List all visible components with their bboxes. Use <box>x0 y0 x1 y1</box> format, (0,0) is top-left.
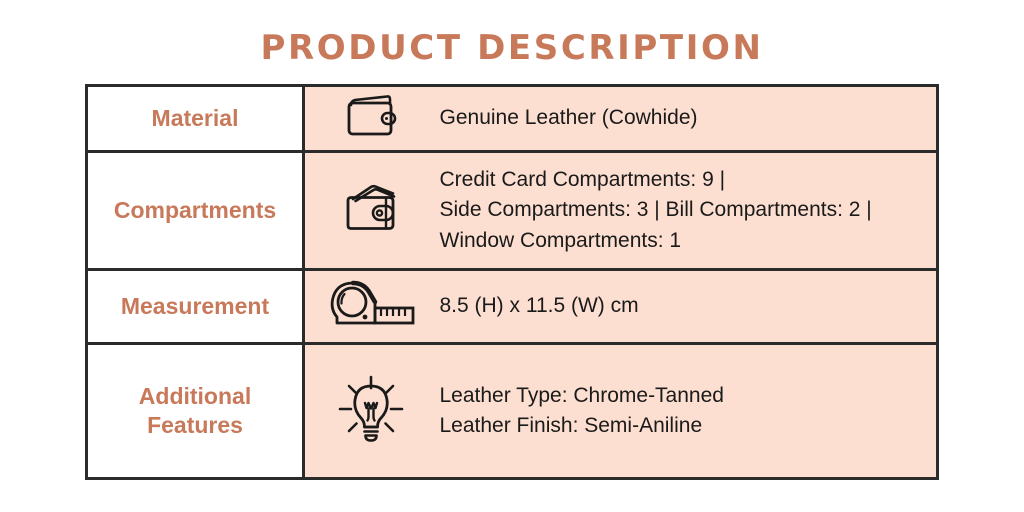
row-value-additional-features: Leather Type: Chrome-Tanned Leather Fini… <box>432 344 938 479</box>
row-icon-cell-material <box>304 86 432 152</box>
table-row-material: Material Genuine Leather (Cowhide) <box>87 86 938 152</box>
wallet-closed-icon <box>343 93 399 139</box>
value-line: Credit Card Compartments: 9 | <box>440 165 923 195</box>
value-line: 8.5 (H) x 11.5 (W) cm <box>440 291 923 321</box>
row-label-material: Material <box>87 86 304 152</box>
row-icon-cell-compartments <box>304 152 432 270</box>
row-label-measurement: Measurement <box>87 270 304 344</box>
value-line: Leather Type: Chrome-Tanned <box>440 381 923 411</box>
table-row-additional-features: Additional Features <box>87 344 938 479</box>
value-line: Side Compartments: 3 | Bill Compartments… <box>440 195 923 225</box>
row-value-compartments: Credit Card Compartments: 9 | Side Compa… <box>432 152 938 270</box>
row-value-measurement: 8.5 (H) x 11.5 (W) cm <box>432 270 938 344</box>
table-row-measurement: Measurement <box>87 270 938 344</box>
wallet-open-icon <box>340 182 402 234</box>
lightbulb-icon <box>332 373 410 445</box>
product-description-table: Material Genuine Leather (Cowhide) Compa… <box>85 84 939 480</box>
row-icon-cell-additional-features <box>304 344 432 479</box>
page-title: PRODUCT DESCRIPTION <box>0 28 1024 68</box>
value-line: Window Compartments: 1 <box>440 226 923 256</box>
tape-measure-icon <box>327 277 415 331</box>
row-label-compartments: Compartments <box>87 152 304 270</box>
product-description-card: PRODUCT DESCRIPTION Material Genuine Lea… <box>0 0 1024 512</box>
row-icon-cell-measurement <box>304 270 432 344</box>
value-line: Genuine Leather (Cowhide) <box>440 103 923 133</box>
table-row-compartments: Compartments Credit Card Compartments: 9… <box>87 152 938 270</box>
value-line: Leather Finish: Semi-Aniline <box>440 411 923 441</box>
row-value-material: Genuine Leather (Cowhide) <box>432 86 938 152</box>
row-label-additional-features: Additional Features <box>87 344 304 479</box>
